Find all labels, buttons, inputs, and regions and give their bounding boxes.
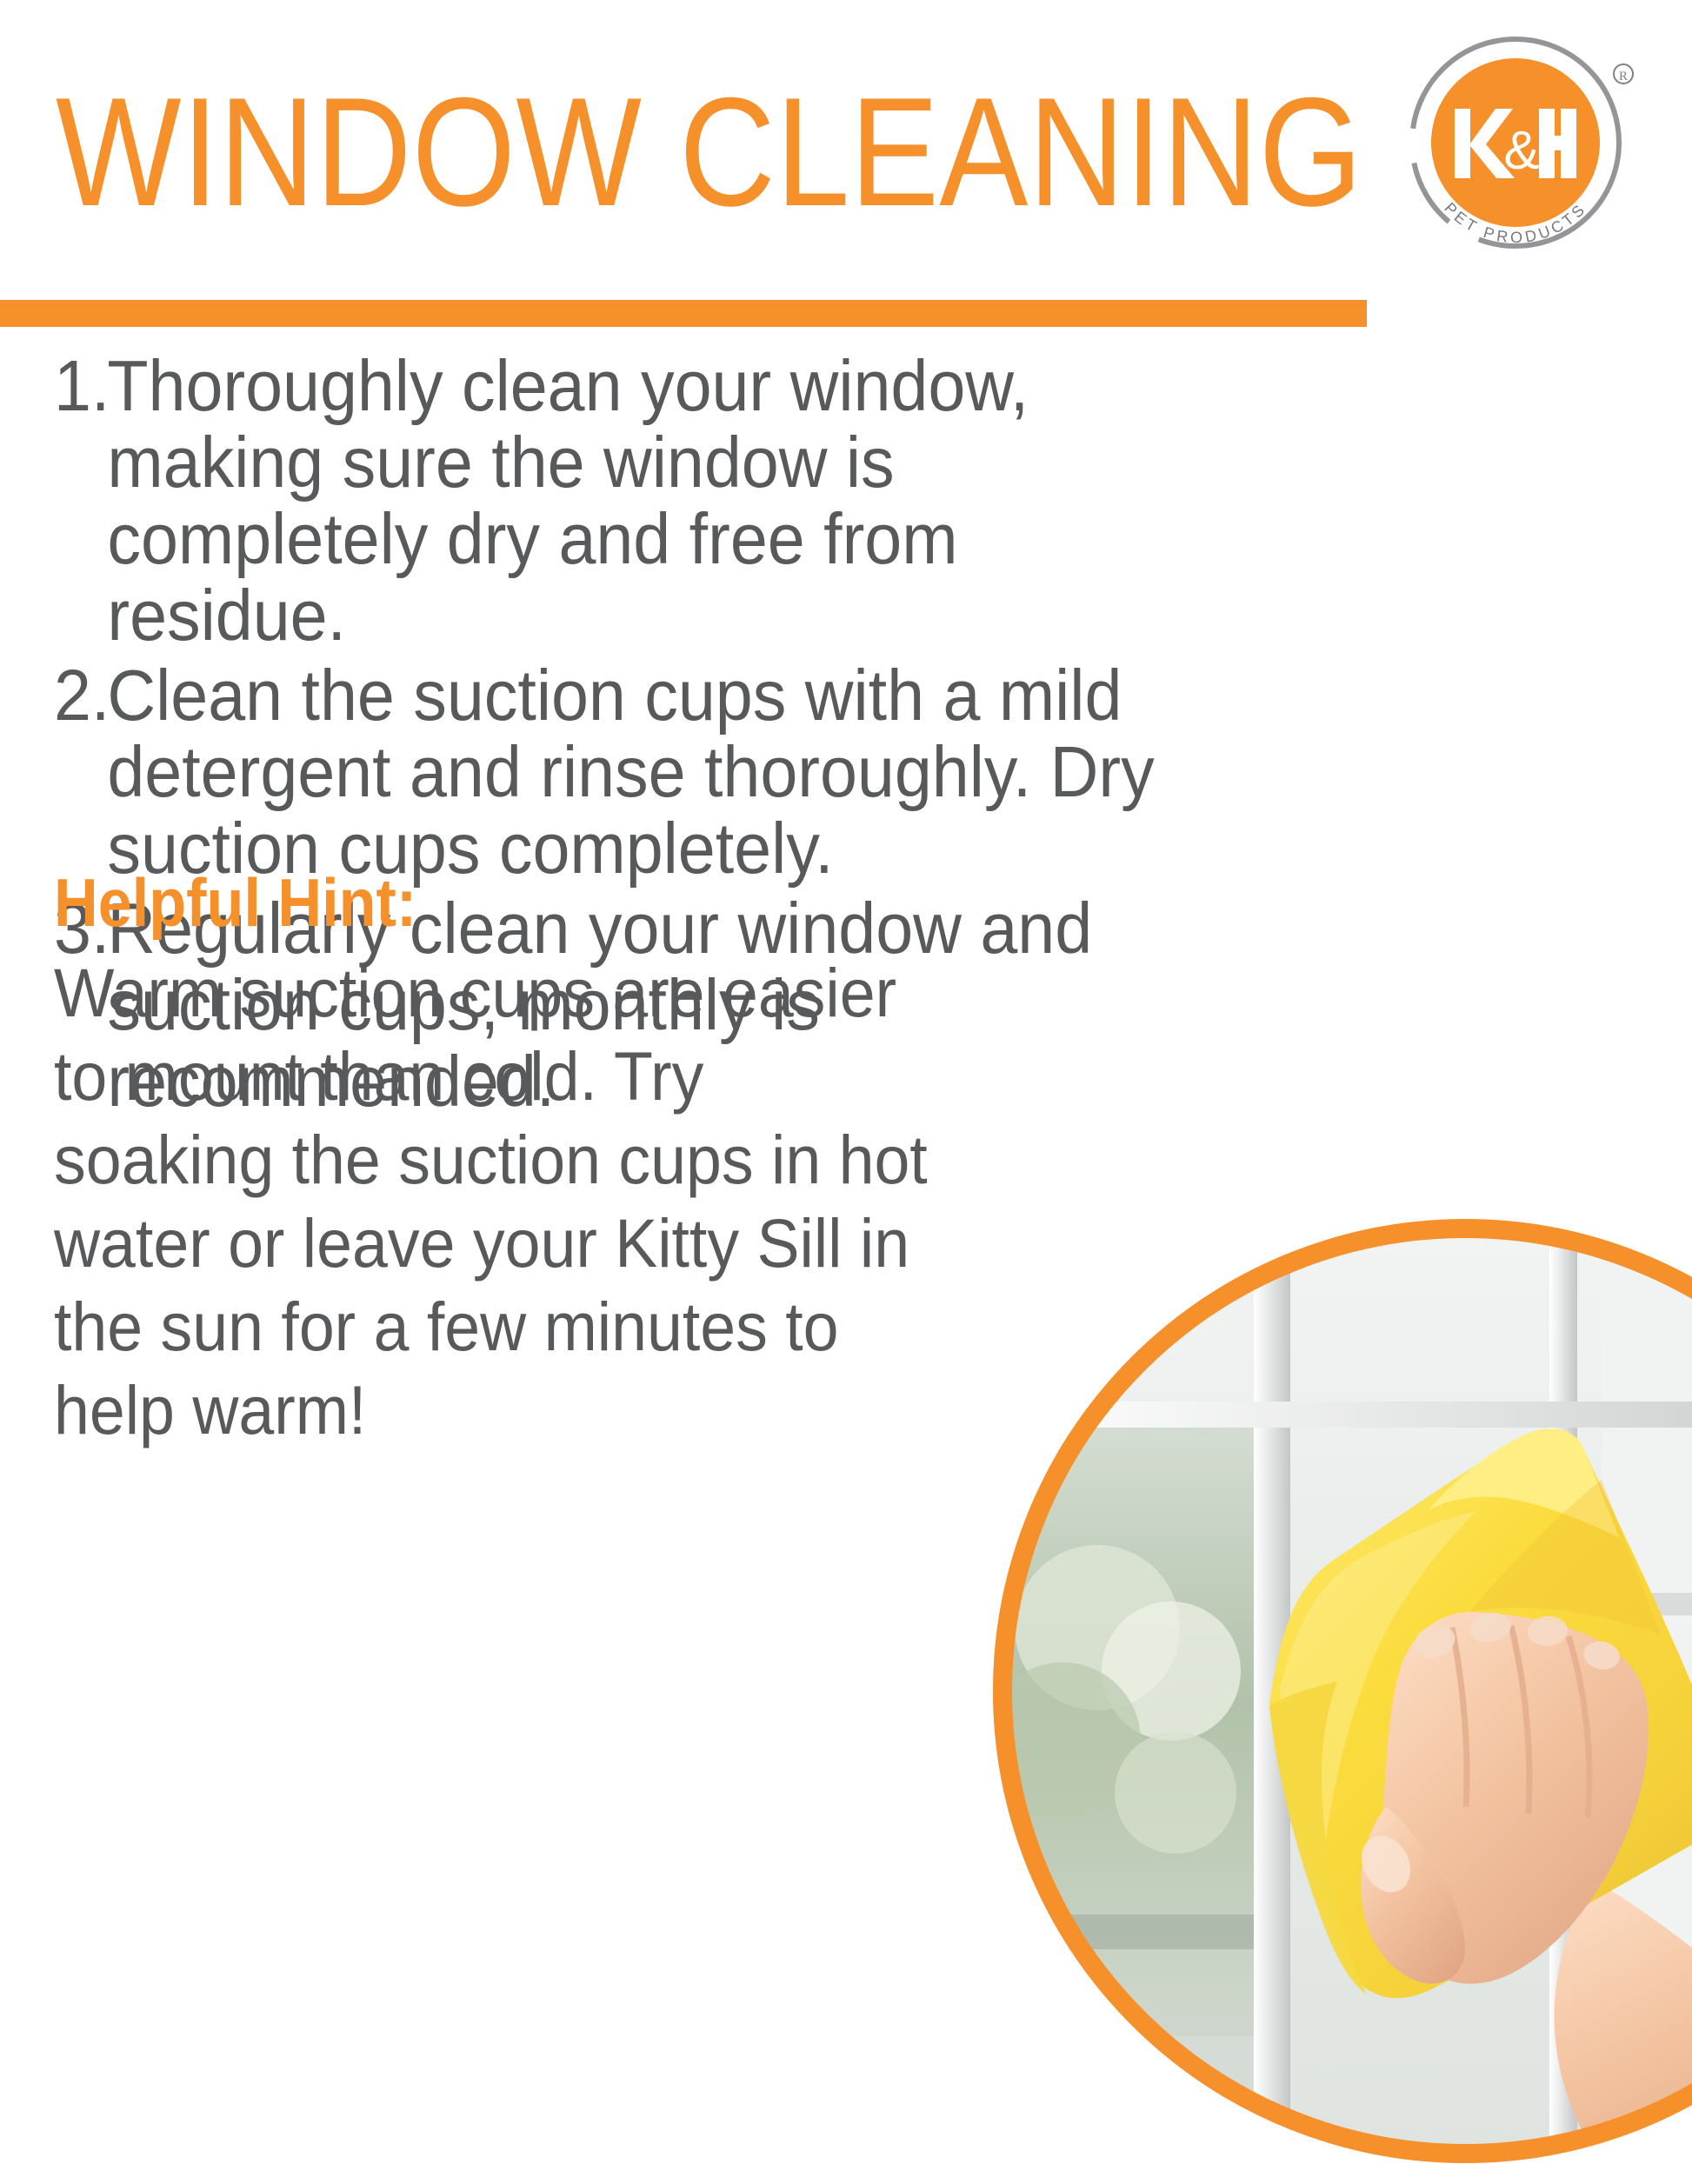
list-item-number: 2.: [54, 657, 110, 734]
kh-pet-products-logo: & PET PRODUCTS R: [1389, 19, 1642, 271]
hand-wiping-window-photo: [993, 1219, 1692, 2184]
content-area: 1. Thoroughly clean your window, making …: [0, 327, 1692, 1692]
photo-orange-ring: [993, 1219, 1692, 2163]
page-title: WINDOW CLEANING: [56, 75, 1362, 230]
helpful-hint-body: Warm suction cups are easier to mount th…: [54, 951, 936, 1452]
helpful-hint-block: Helpful Hint: Warm suction cups are easi…: [54, 866, 1002, 1452]
list-item-text: Clean the suction cups with a mild deter…: [107, 655, 1154, 889]
svg-text:&: &: [1503, 121, 1539, 181]
poster-page: WINDOW CLEANING: [0, 0, 1692, 1692]
svg-text:R: R: [1619, 70, 1628, 83]
list-item: 2. Clean the suction cups with a mild de…: [54, 657, 1202, 887]
header-accent-bar: [0, 300, 1367, 327]
helpful-hint-title: Helpful Hint:: [54, 866, 907, 939]
header: WINDOW CLEANING: [0, 0, 1692, 300]
registered-trademark-icon: R: [1614, 64, 1633, 83]
list-item-text: Thoroughly clean your window, making sur…: [107, 345, 1029, 656]
list-item-number: 1.: [54, 348, 110, 424]
list-item: 1. Thoroughly clean your window, making …: [54, 348, 1202, 654]
